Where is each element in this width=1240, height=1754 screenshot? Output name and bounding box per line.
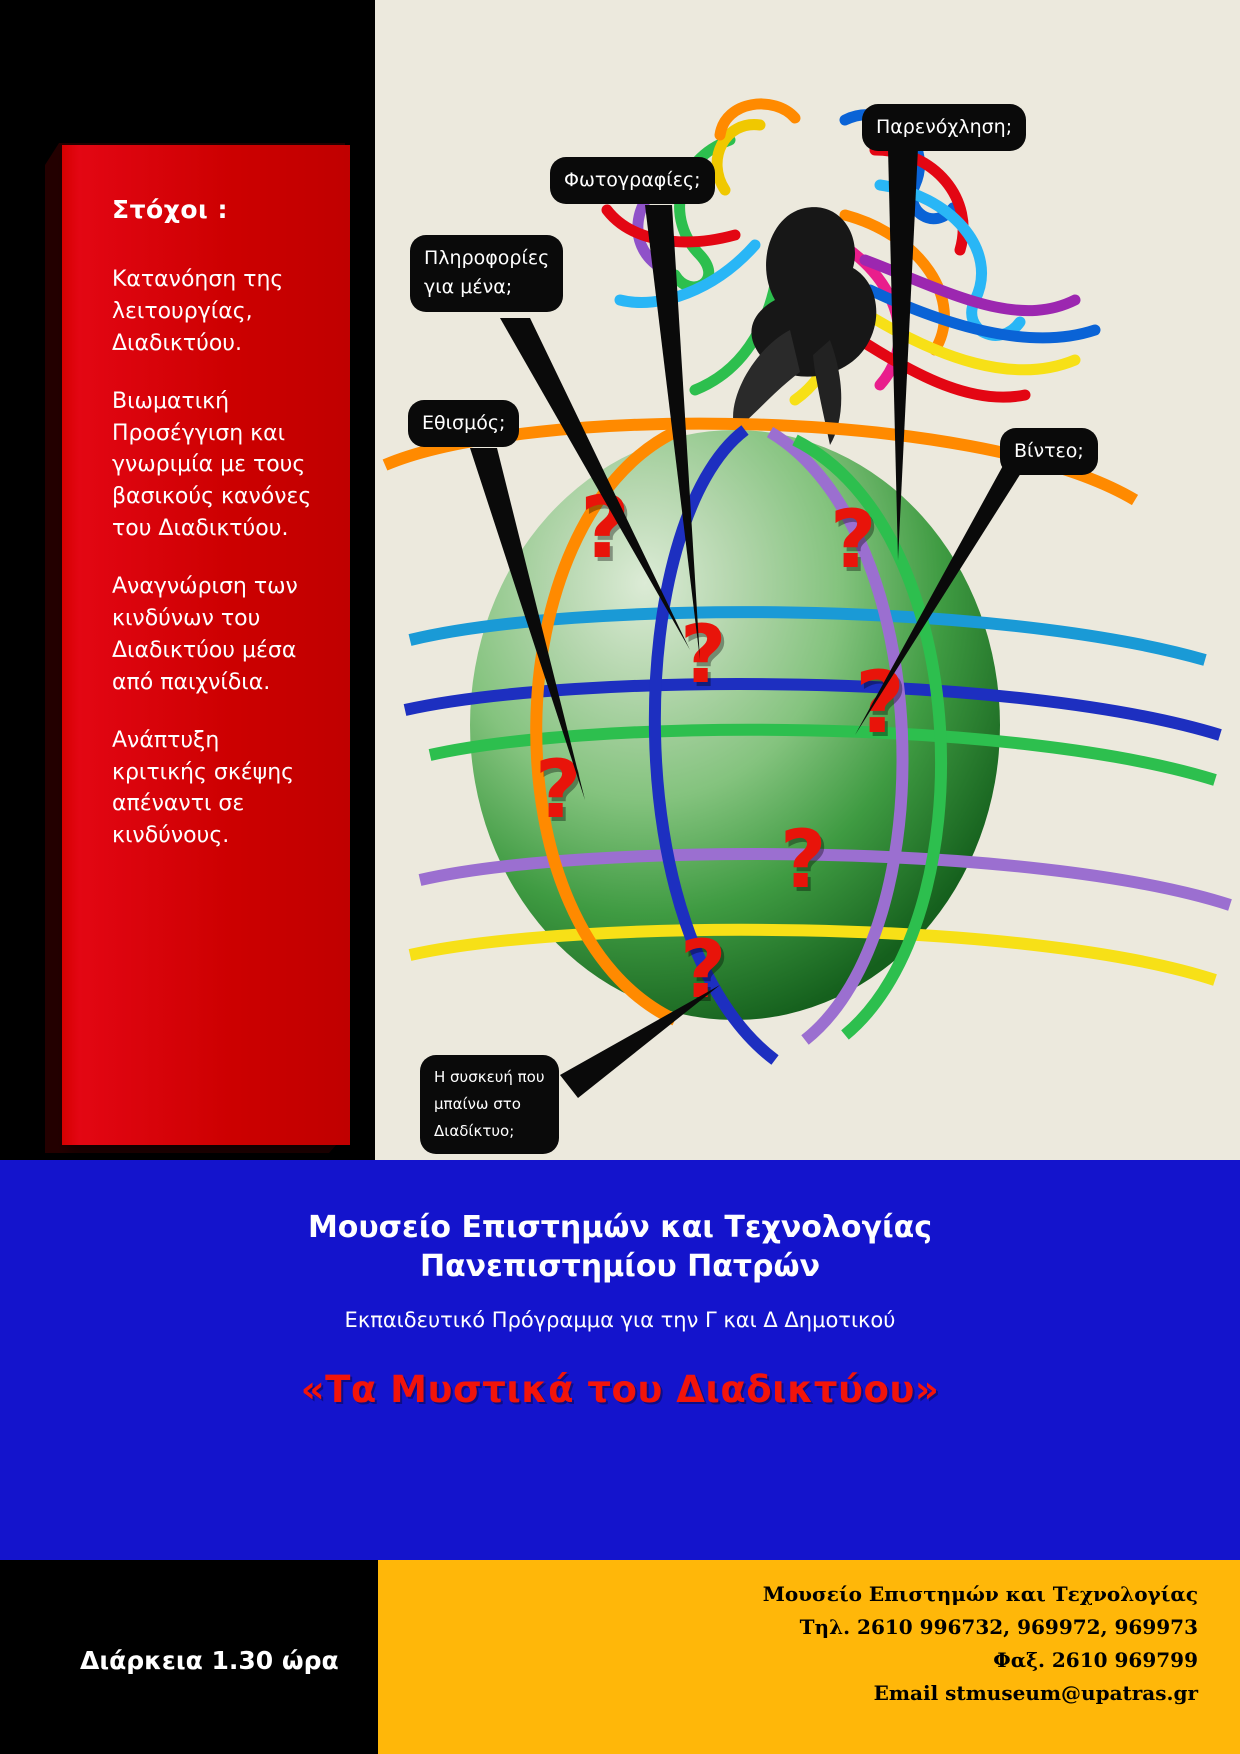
contact-box: Μουσείο Επιστημών και Τεχνολογίας Τηλ. 2… bbox=[378, 1560, 1240, 1754]
goals-title: Στόχοι : bbox=[112, 195, 320, 224]
bubble-harassment[interactable]: Παρενόχληση; bbox=[862, 104, 1026, 151]
poster-root: ? ? ? ? ? ? ? Παρενόχληση; Φωτογραφίες; … bbox=[0, 0, 1240, 1754]
contact-phone: Τηλ. 2610 996732, 969972, 969973 bbox=[378, 1611, 1198, 1644]
program-subtitle: Εκπαιδευτικό Πρόγραμμα για την Γ και Δ Δ… bbox=[0, 1286, 1240, 1332]
question-mark-icon: ? bbox=[680, 615, 726, 695]
bubble-photos[interactable]: Φωτογραφίες; bbox=[550, 157, 715, 204]
bubble-addiction[interactable]: Εθισμός; bbox=[408, 400, 519, 447]
goal-item: Βιωματική Προσέγγιση και γνωριμία με του… bbox=[112, 386, 320, 545]
goal-item: Ανάπτυξη κριτικής σκέψης απέναντι σε κιν… bbox=[112, 725, 320, 853]
bubble-video[interactable]: Βίντεο; bbox=[1000, 428, 1098, 475]
duration-label: Διάρκεια 1.30 ώρα bbox=[80, 1646, 339, 1675]
question-mark-icon: ? bbox=[855, 660, 905, 746]
goal-item: Αναγνώριση των κινδύνων του Διαδικτύου μ… bbox=[112, 571, 320, 699]
organization-line-2: Πανεπιστημίου Πατρών bbox=[0, 1247, 1240, 1286]
contact-email: Email stmuseum@upatras.gr bbox=[378, 1677, 1198, 1710]
program-slogan: «Τα Μυστικά του Διαδικτύου» bbox=[0, 1332, 1240, 1411]
organization-line-1: Μουσείο Επιστημών και Τεχνολογίας bbox=[0, 1208, 1240, 1247]
blue-banner: Μουσείο Επιστημών και Τεχνολογίας Πανεπι… bbox=[0, 1160, 1240, 1560]
question-mark-icon: ? bbox=[780, 820, 826, 900]
bubble-info-about-me[interactable]: Πληροφορίες για μένα; bbox=[410, 235, 563, 312]
question-mark-icon: ? bbox=[580, 485, 630, 571]
contact-name: Μουσείο Επιστημών και Τεχνολογίας bbox=[378, 1578, 1198, 1611]
contact-fax: Φαξ. 2610 969799 bbox=[378, 1644, 1198, 1677]
bubble-device[interactable]: Η συσκευή που μπαίνω στο Διαδίκτυο; bbox=[420, 1055, 559, 1154]
goals-card: Στόχοι : Κατανόηση της λειτουργίας, Διαδ… bbox=[62, 145, 350, 1145]
question-mark-icon: ? bbox=[535, 750, 581, 830]
globe-illustration bbox=[375, 0, 1240, 1160]
question-mark-icon: ? bbox=[830, 500, 876, 580]
artwork-panel: ? ? ? ? ? ? ? bbox=[375, 0, 1240, 1160]
question-mark-icon: ? bbox=[680, 930, 726, 1010]
goal-item: Κατανόηση της λειτουργίας, Διαδικτύου. bbox=[112, 264, 320, 360]
